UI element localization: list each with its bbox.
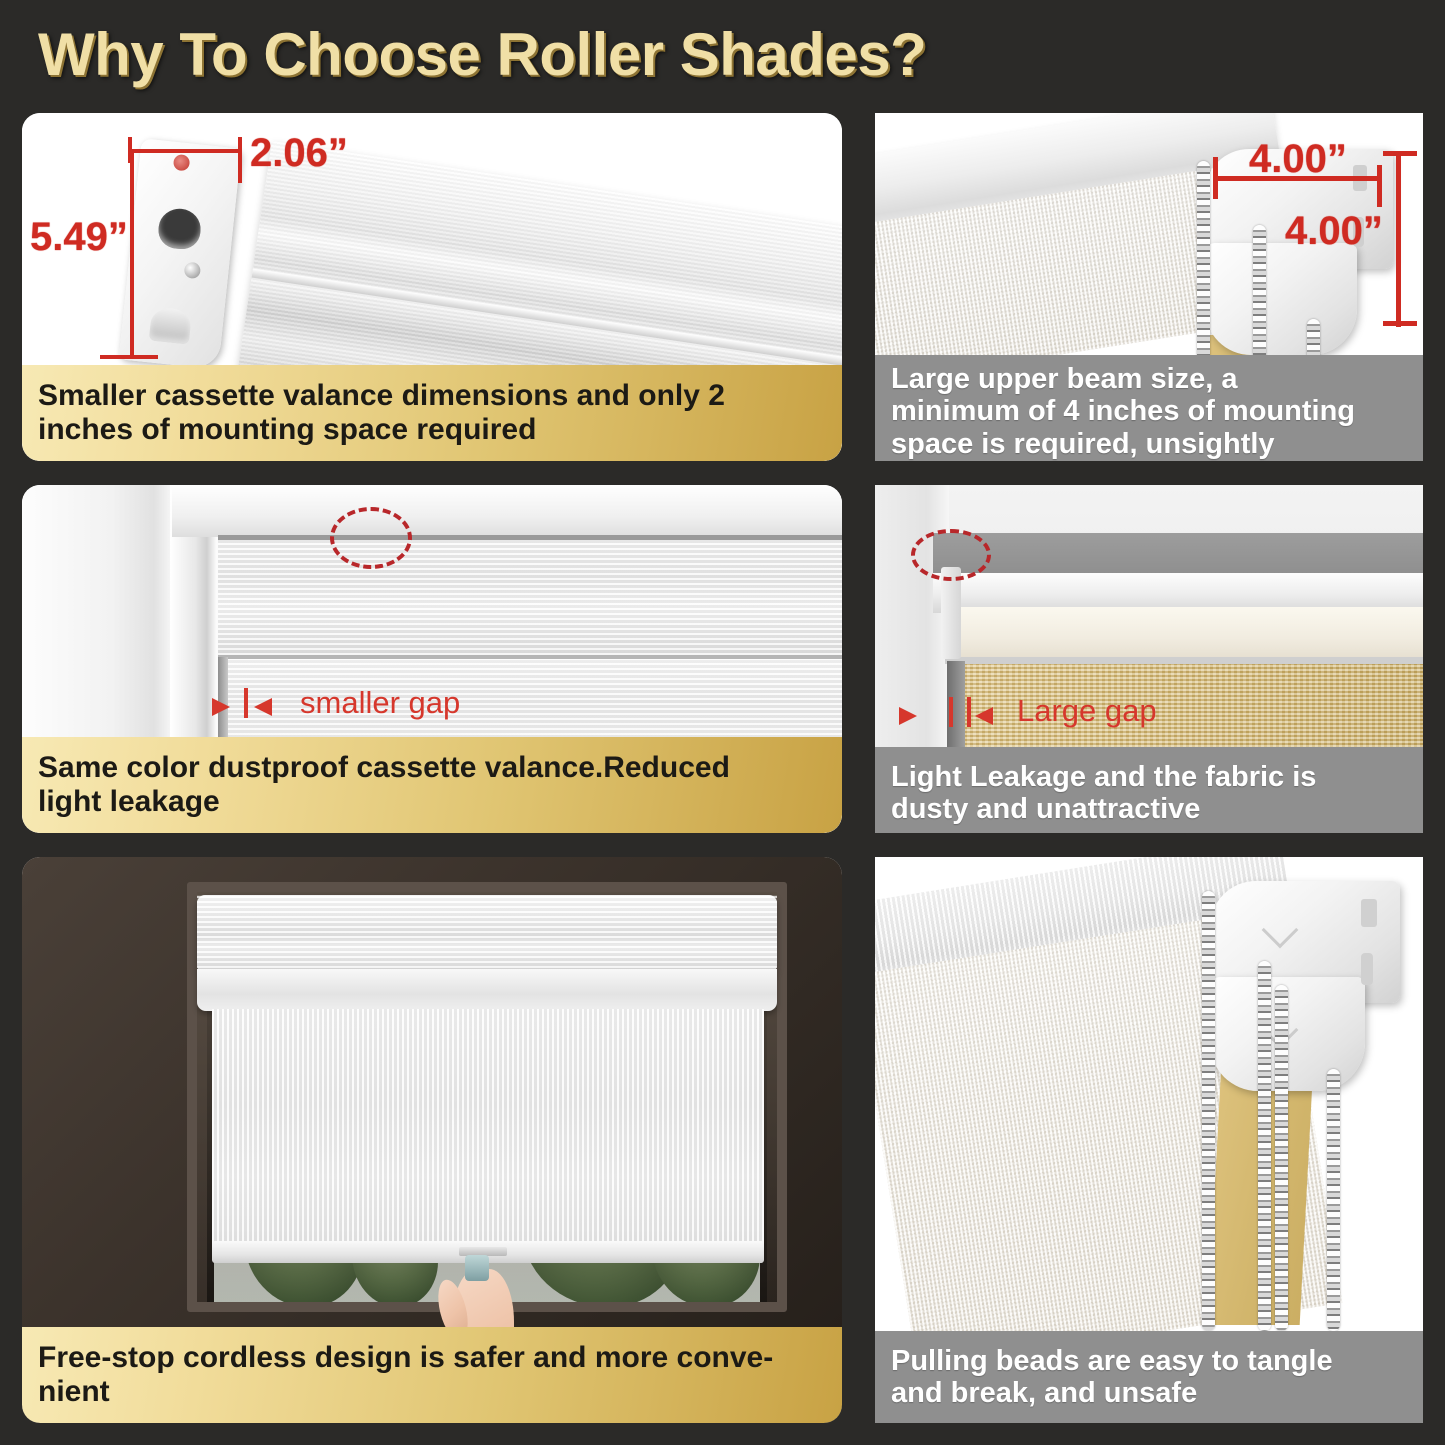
- caption-line: Light Leakage and the fabric is: [891, 761, 1316, 793]
- panel-3-caption: Same color dustproof cassette valance.Re…: [22, 737, 842, 833]
- gap-arrow-left: [899, 707, 917, 725]
- caption-line: Free-stop cordless design is safer and m…: [38, 1341, 773, 1375]
- caption-line: light leakage: [38, 785, 730, 819]
- panel-bad-light-leakage: Large gap Light Leakage and the fabric i…: [875, 485, 1423, 833]
- valance-texture: [218, 537, 842, 655]
- dimension-line-vertical: [130, 149, 134, 331]
- bead-chain-mid: [1258, 961, 1271, 1331]
- bracket-slot-lower: [1361, 953, 1373, 985]
- valance-seam: [218, 535, 842, 540]
- panel-4-caption: Light Leakage and the fabric is dusty an…: [875, 747, 1423, 833]
- caption-line: Pulling beads are easy to tangle: [891, 1345, 1333, 1377]
- dimension-label-height: 5.49”: [30, 215, 128, 260]
- caption-line: and break, and unsafe: [891, 1377, 1333, 1409]
- valance-cream: [945, 607, 1423, 659]
- caption-line: dusty and unattractive: [891, 793, 1316, 825]
- highlight-ellipse: [911, 529, 991, 581]
- panel-1-caption: Smaller cassette valance dimensions and …: [22, 365, 842, 461]
- caption-line: inches of mounting space required: [38, 413, 725, 447]
- dimension-tick-bottom: [1383, 321, 1417, 326]
- dimension-label-width: 4.00”: [1249, 137, 1347, 182]
- caption-line: minimum of 4 inches of mounting: [891, 395, 1355, 427]
- dimension-tick-right: [238, 137, 242, 183]
- gap-arrow-right: [975, 707, 993, 725]
- dimension-tick-left: [1213, 157, 1218, 199]
- highlight-ellipse: [330, 507, 412, 569]
- panel-good-dustproof-valance: smaller gap Same color dustproof cassett…: [22, 485, 842, 833]
- valance-shadow-edge: [945, 657, 1423, 664]
- window-frame-top: [172, 485, 842, 537]
- gap-arrow-left: [212, 698, 230, 716]
- panel-2-caption: Large upper beam size, a minimum of 4 in…: [875, 355, 1423, 461]
- dimension-tick-bottom: [100, 355, 158, 359]
- dimension-tick-right: [1377, 165, 1382, 207]
- shade-edge-dark: [218, 655, 842, 659]
- dimension-line-horizontal: [130, 149, 242, 153]
- bead-chain-left: [1202, 891, 1215, 1331]
- panel-bad-pull-beads: Pulling beads are easy to tangle and bre…: [875, 857, 1423, 1423]
- dimension-line-vertical: [1396, 153, 1401, 327]
- caption-line: Large upper beam size, a: [891, 363, 1355, 395]
- panel-5-caption: Free-stop cordless design is safer and m…: [22, 1327, 842, 1423]
- dimension-tick-top: [1383, 151, 1417, 156]
- gap-marker-line-a: [949, 697, 953, 727]
- panel-6-caption: Pulling beads are easy to tangle and bre…: [875, 1331, 1423, 1423]
- roller-end-bracket-lower: [1205, 243, 1357, 355]
- gap-arrow-right: [254, 698, 272, 716]
- caption-line: Same color dustproof cassette valance.Re…: [38, 751, 730, 785]
- valance-lower-lip: [197, 969, 777, 1011]
- panel-bad-beam-size: 4.00” 4.00” Large upper beam size, a min…: [875, 113, 1423, 461]
- page-header: Why To Choose Roller Shades?: [0, 0, 1445, 108]
- bracket-slot-upper: [1361, 899, 1377, 927]
- gap-label: Large gap: [1017, 693, 1157, 729]
- bead-chain-mid-2: [1275, 985, 1288, 1331]
- gap-marker-line: [244, 688, 248, 718]
- panel-good-valance-size: 2.06” 5.49” Smaller cassette valance dim…: [22, 113, 842, 461]
- roller-shade-fabric: [212, 1009, 764, 1249]
- dimension-label-width: 2.06”: [250, 131, 348, 176]
- cassette-valance: [197, 895, 777, 973]
- caption-line: Smaller cassette valance dimensions and …: [38, 379, 725, 413]
- dimension-label-height: 4.00”: [1285, 209, 1383, 254]
- caption-line: nient: [38, 1375, 773, 1409]
- pull-grip: [465, 1255, 489, 1281]
- panel-good-cordless-design: Free-stop cordless design is safer and m…: [22, 857, 842, 1423]
- gap-label: smaller gap: [300, 685, 460, 721]
- bead-chain-right: [1327, 1069, 1340, 1331]
- gap-marker-line-b: [967, 697, 971, 727]
- caption-line: space is required, unsightly: [891, 428, 1355, 460]
- page-title: Why To Choose Roller Shades?: [38, 20, 926, 89]
- window-frame-vertical: [22, 485, 172, 745]
- ceiling-shadow: [933, 533, 1423, 577]
